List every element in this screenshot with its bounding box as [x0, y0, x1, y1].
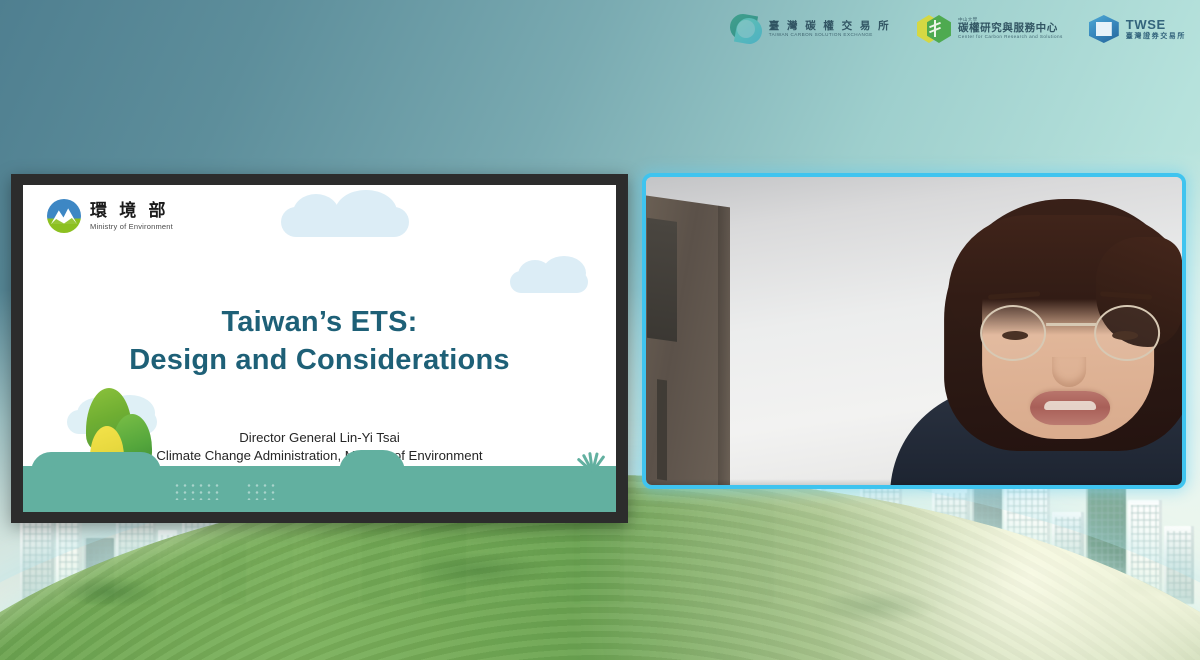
moenv-name-zh: 環 境 部 [90, 202, 173, 219]
ccrs-name-en: Center for Carbon Research and Solutions [958, 35, 1063, 40]
tcx-name-en: TAIWAN CARBON SOLUTION EXCHANGE [769, 33, 891, 38]
logo-taiwan-carbon-solution-exchange: 臺 灣 碳 權 交 易 所 TAIWAN CARBON SOLUTION EXC… [730, 13, 891, 45]
ground-decoration [23, 466, 616, 512]
cloud-decoration [510, 271, 588, 293]
video-bottom-edge [646, 479, 1182, 485]
participant-video-tile[interactable] [642, 173, 1186, 489]
shared-screen-slide[interactable]: 環 境 部 Ministry of Environment Taiwan’s E… [11, 174, 628, 523]
sponsor-logo-bar: 臺 灣 碳 權 交 易 所 TAIWAN CARBON SOLUTION EXC… [730, 0, 1200, 52]
cloud-decoration [281, 207, 409, 237]
slide-title-line-2: Design and Considerations [23, 341, 616, 379]
logo-taiwan-stock-exchange: TWSE 臺灣證券交易所 [1089, 15, 1186, 43]
moenv-mountain-circle-icon [47, 199, 81, 233]
slide-title-line-1: Taiwan’s ETS: [23, 303, 616, 341]
twse-name-zh: 臺灣證券交易所 [1126, 33, 1186, 40]
ccrs-hexagon-leaf-icon [917, 14, 951, 44]
speaker-portrait [904, 185, 1186, 485]
tcx-name-zh: 臺 灣 碳 權 交 易 所 [769, 21, 891, 32]
ccrs-name-zh: 碳權研究與服務中心 [958, 23, 1063, 34]
twse-wordmark: TWSE [1126, 18, 1186, 31]
grass-decoration [41, 454, 63, 472]
logo-center-for-carbon-research-and-solutions: 中山大學 碳權研究與服務中心 Center for Carbon Researc… [917, 14, 1063, 44]
slide-canvas: 環 境 部 Ministry of Environment Taiwan’s E… [23, 185, 616, 512]
twse-hexagon-swirl-icon [1089, 15, 1119, 43]
grass-decoration [575, 454, 611, 472]
tcx-leaf-circle-icon [730, 13, 762, 45]
ministry-of-environment-logo: 環 境 部 Ministry of Environment [47, 199, 173, 233]
moenv-name-en: Ministry of Environment [90, 222, 173, 231]
eyeglasses-icon [978, 305, 1162, 361]
screen-share-stage: 臺 灣 碳 權 交 易 所 TAIWAN CARBON SOLUTION EXC… [0, 0, 1200, 660]
slide-title: Taiwan’s ETS: Design and Considerations [23, 303, 616, 380]
video-background-cabinet [642, 195, 730, 489]
